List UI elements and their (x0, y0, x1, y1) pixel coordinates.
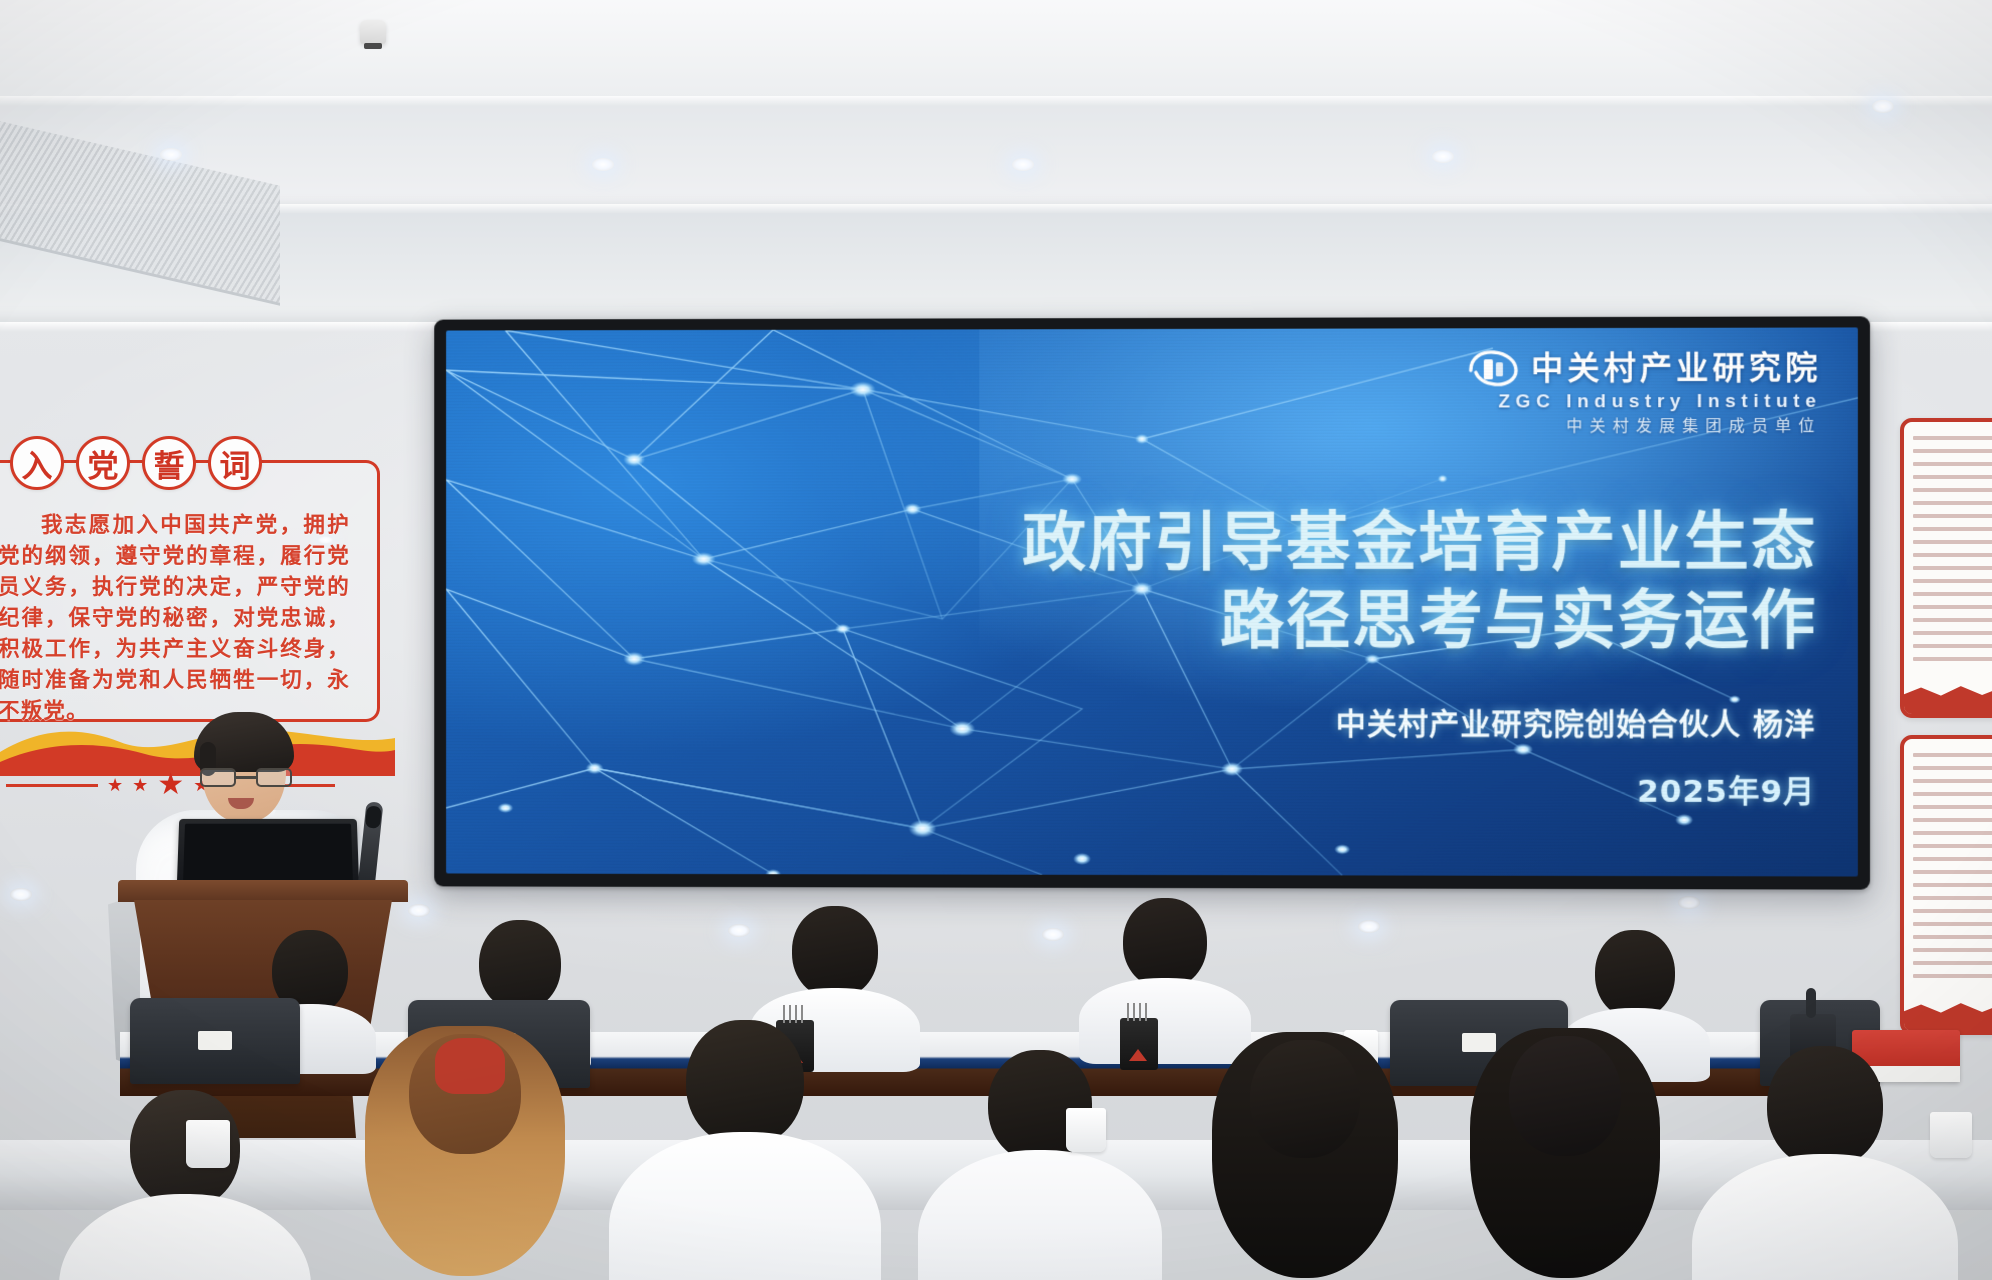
star-rule-left (6, 784, 98, 787)
paper-cup (1930, 1112, 1972, 1158)
audience-person-foreground (1700, 1046, 1950, 1280)
audience-person-foreground (1180, 1034, 1430, 1280)
paper-cup (186, 1120, 230, 1168)
slide-title-line-1: 政府引导基金培育产业生态 (1022, 503, 1817, 582)
slide-surface: 中关村产业研究院 ZGC Industry Institute 中关村发展集团成… (446, 327, 1858, 876)
slide-title-line-2: 路径思考与实务运作 (1022, 582, 1817, 660)
person-head (792, 906, 878, 998)
downlight (1012, 158, 1034, 171)
person-torso (609, 1132, 881, 1280)
person-head (1595, 930, 1675, 1018)
oath-title-char-3: 誓 (142, 436, 196, 490)
downlight (1872, 100, 1894, 113)
person-head (686, 1020, 804, 1146)
paper-cup (1066, 1108, 1106, 1152)
ceiling-lip-1 (0, 96, 1992, 106)
zgc-mark-svg (1467, 348, 1519, 388)
logo-row: 中关村产业研究院 (1467, 348, 1822, 389)
right-poster-2 (1900, 735, 1992, 1035)
right-poster-1 (1900, 418, 1992, 718)
poster-title-circles: 入 党 誓 词 (10, 436, 262, 490)
audience-person-foreground (620, 1020, 870, 1280)
oath-body-text: 我志愿加入中国共产党，拥护党的纲领，遵守党的章程，履行党员义务，执行党的决定，严… (0, 510, 350, 727)
person-head (1767, 1046, 1883, 1168)
ceiling-band-2 (0, 96, 1992, 208)
audience-chair[interactable] (130, 998, 300, 1084)
glasses-icon (200, 768, 292, 787)
audience-person (1090, 898, 1240, 1048)
presenter-line: 中关村产业研究院创始合伙人 杨洋 (1336, 699, 1816, 744)
smoke-detector-icon (360, 20, 386, 44)
ceiling-band-3 (0, 204, 1992, 322)
ceiling-band-1 (0, 0, 1992, 100)
person-head (1123, 898, 1207, 988)
downlight (10, 888, 32, 901)
logo-subtitle: 中关村发展集团成员单位 (1467, 418, 1822, 435)
logo-chinese-name: 中关村产业研究院 (1531, 352, 1821, 385)
downlight (160, 148, 182, 161)
audience-person-foreground (340, 1030, 590, 1280)
person-head (1250, 1040, 1360, 1158)
poster-text-lines (1913, 436, 1992, 670)
downlight (1678, 896, 1700, 909)
slide-title: 政府引导基金培育产业生态 路径思考与实务运作 (1022, 503, 1817, 660)
podium-top (118, 880, 408, 902)
person-torso (918, 1150, 1162, 1280)
institute-logo: 中关村产业研究院 ZGC Industry Institute 中关村发展集团成… (1467, 348, 1822, 435)
poster-footer-band (1904, 680, 1992, 714)
oath-title-char-2: 党 (76, 436, 130, 490)
person-head (479, 920, 561, 1010)
oath-title-char-1: 入 (10, 436, 64, 490)
poster-text-lines (1913, 753, 1992, 987)
hair-red-streak (435, 1038, 505, 1094)
podium-laptop[interactable] (177, 819, 359, 888)
ceiling-lip-2 (0, 204, 1992, 214)
downlight (592, 158, 614, 171)
chair-tag (198, 1031, 232, 1050)
audience-person-foreground (1440, 1030, 1690, 1280)
oath-title-char-4: 词 (208, 436, 262, 490)
slide-meta: 中关村产业研究院创始合伙人 杨洋 2025年9月 (1336, 699, 1816, 811)
downlight (728, 924, 750, 937)
audience-person-foreground (930, 1050, 1150, 1280)
audience-person-foreground (70, 1090, 300, 1280)
person-torso (1692, 1154, 1958, 1280)
poster-footer-band (1904, 997, 1992, 1031)
screenshot-stage: 入 党 誓 词 我志愿加入中国共产党，拥护党的纲领，遵守党的章程，履行党员义务，… (0, 0, 1992, 1280)
slide-date: 2025年9月 (1336, 765, 1816, 811)
zgc-logo-icon (1467, 348, 1519, 388)
party-oath-poster: 入 党 誓 词 我志愿加入中国共产党，拥护党的纲领，遵守党的章程，履行党员义务，… (0, 418, 390, 728)
downlight (1042, 928, 1064, 941)
downlight (1358, 920, 1380, 933)
person-head (1509, 1036, 1621, 1156)
led-presentation-screen[interactable]: 中关村产业研究院 ZGC Industry Institute 中关村发展集团成… (434, 316, 1870, 889)
logo-english-name: ZGC Industry Institute (1467, 392, 1822, 412)
person-torso (59, 1194, 311, 1280)
downlight (1432, 150, 1454, 163)
presenter-hair (194, 712, 294, 772)
